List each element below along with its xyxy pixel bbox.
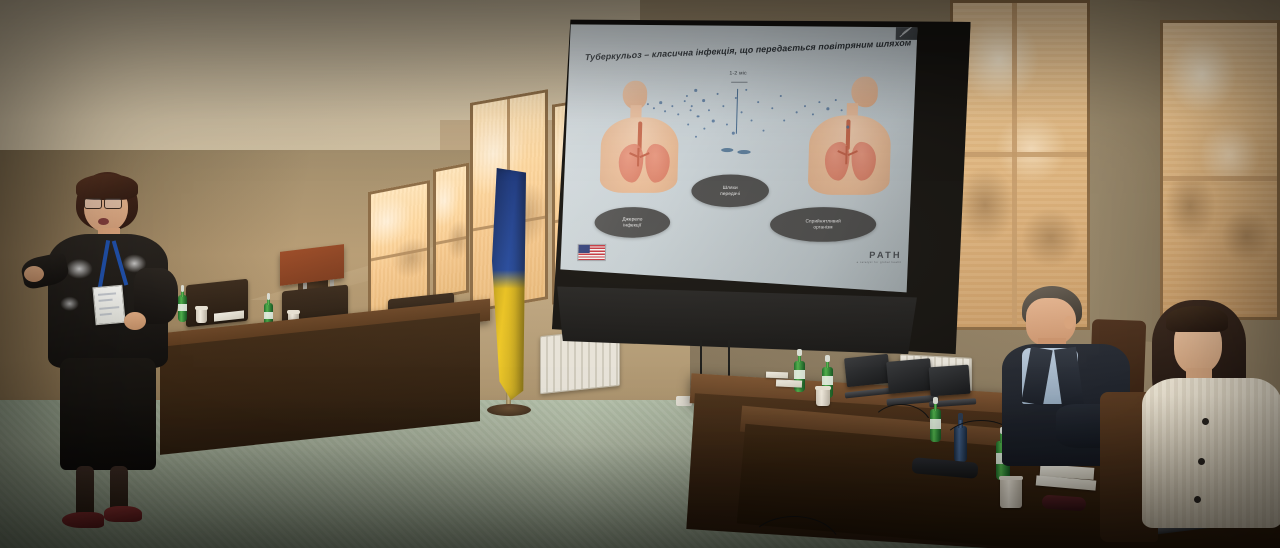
seated-woman-with-laptop xyxy=(1140,300,1280,548)
screen-lower-frame xyxy=(556,286,917,354)
projection-screen: Туберкульоз – класична інфекція, що пере… xyxy=(551,8,970,364)
flag-base xyxy=(487,404,531,416)
oval-host-line2: організм xyxy=(813,224,832,229)
droplet-size-label: 1-2 мiс xyxy=(729,70,747,76)
slide-surface: Туберкульоз – класична інфекція, що пере… xyxy=(558,17,917,295)
droplet-cloud: 1-2 мiс xyxy=(680,70,803,176)
water-bottle xyxy=(930,400,941,442)
sweater-button xyxy=(1202,418,1209,425)
presenter-speaking xyxy=(18,172,188,532)
knit-sweater xyxy=(1142,378,1280,528)
oval-host-line1: Сприйнятливий xyxy=(805,219,840,224)
skirt xyxy=(60,358,156,470)
us-flag-icon xyxy=(577,244,606,261)
oval-route-line2: передачі xyxy=(720,191,740,196)
window-right-1 xyxy=(950,0,1090,330)
eyeglasses-lens xyxy=(84,198,102,209)
oval-source-line1: Джерело xyxy=(622,217,642,222)
shoe xyxy=(62,512,104,528)
oval-route-line1: Шляхи xyxy=(723,185,738,190)
mouth xyxy=(98,218,109,225)
path-tagline: a catalyst for global health xyxy=(857,261,902,264)
sweater-button xyxy=(1194,496,1201,503)
eyeglasses-lens xyxy=(104,198,122,209)
conference-room-scene: Туберкульоз – класична інфекція, що пере… xyxy=(0,0,1280,548)
oval-susceptible-host: Сприйнятливий організм xyxy=(770,207,877,242)
path-wordmark: PATH xyxy=(857,250,902,260)
hand xyxy=(124,312,146,330)
slide-content: Туберкульоз – класична інфекція, що пере… xyxy=(558,17,917,290)
paper-coffee-cup xyxy=(816,388,830,406)
figure-susceptible-person xyxy=(787,77,909,210)
path-logo: PATH a catalyst for global health xyxy=(857,250,902,264)
document-stack xyxy=(776,379,802,387)
window-left-2 xyxy=(433,163,469,300)
paper-coffee-cup xyxy=(196,308,207,323)
open-laptop[interactable] xyxy=(844,354,892,398)
ear xyxy=(1064,316,1074,329)
hair-front xyxy=(1166,306,1228,332)
shoe xyxy=(104,506,142,522)
open-laptop[interactable] xyxy=(886,358,934,406)
oval-source-of-infection: Джерело інфекції xyxy=(594,207,670,238)
window-right-2 xyxy=(1160,20,1280,320)
oval-source-line2: інфекції xyxy=(623,222,641,227)
sweater-button xyxy=(1198,458,1205,465)
slide-title: Туберкульоз – класична інфекція, що пере… xyxy=(585,37,910,62)
document-stack xyxy=(766,372,788,379)
conference-badge xyxy=(92,285,125,325)
hair-front xyxy=(76,174,138,200)
hand xyxy=(24,266,44,282)
oval-transmission-routes: Шляхи передачі xyxy=(691,174,769,207)
